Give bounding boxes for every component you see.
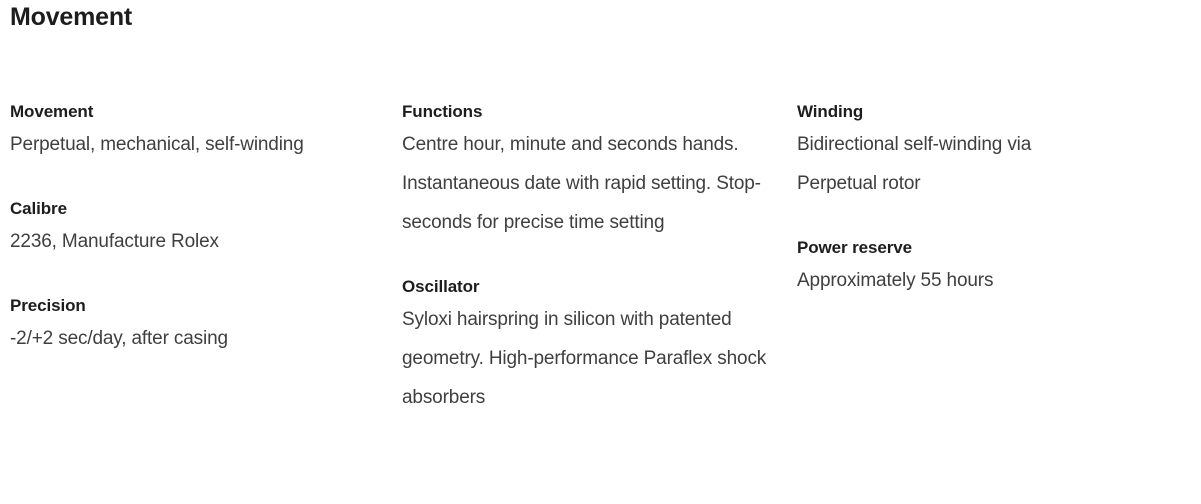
spec-group-oscillator: Oscillator Syloxi hairspring in silicon … (402, 275, 796, 417)
spec-heading-functions: Functions (402, 100, 796, 123)
spec-column-2: Functions Centre hour, minute and second… (401, 100, 796, 417)
spec-group-power-reserve: Power reserve Approximately 55 hours (797, 236, 1201, 300)
spec-heading-power-reserve: Power reserve (797, 236, 1201, 259)
spec-group-movement: Movement Perpetual, mechanical, self-win… (10, 100, 401, 164)
spec-value-movement: Perpetual, mechanical, self-winding (10, 125, 340, 164)
spec-group-calibre: Calibre 2236, Manufacture Rolex (10, 197, 401, 261)
spec-heading-winding: Winding (797, 100, 1201, 123)
spec-column-1: Movement Perpetual, mechanical, self-win… (0, 100, 401, 358)
spec-heading-oscillator: Oscillator (402, 275, 796, 298)
spec-heading-precision: Precision (10, 294, 401, 317)
spec-heading-movement: Movement (10, 100, 401, 123)
spec-value-winding: Bidirectional self-winding via Perpetual… (797, 125, 1097, 203)
spec-value-calibre: 2236, Manufacture Rolex (10, 222, 340, 261)
spec-column-3: Winding Bidirectional self-winding via P… (796, 100, 1201, 300)
spec-group-functions: Functions Centre hour, minute and second… (402, 100, 796, 242)
spec-value-oscillator: Syloxi hairspring in silicon with patent… (402, 300, 774, 417)
spec-group-winding: Winding Bidirectional self-winding via P… (797, 100, 1201, 203)
specification-columns: Movement Perpetual, mechanical, self-win… (0, 100, 1201, 417)
spec-group-precision: Precision -2/+2 sec/day, after casing (10, 294, 401, 358)
spec-value-power-reserve: Approximately 55 hours (797, 261, 1097, 300)
spec-heading-calibre: Calibre (10, 197, 401, 220)
spec-value-functions: Centre hour, minute and seconds hands. I… (402, 125, 774, 242)
movement-specifications-panel: Movement Movement Perpetual, mechanical,… (0, 0, 1201, 504)
page-title: Movement (10, 0, 132, 34)
spec-value-precision: -2/+2 sec/day, after casing (10, 319, 340, 358)
